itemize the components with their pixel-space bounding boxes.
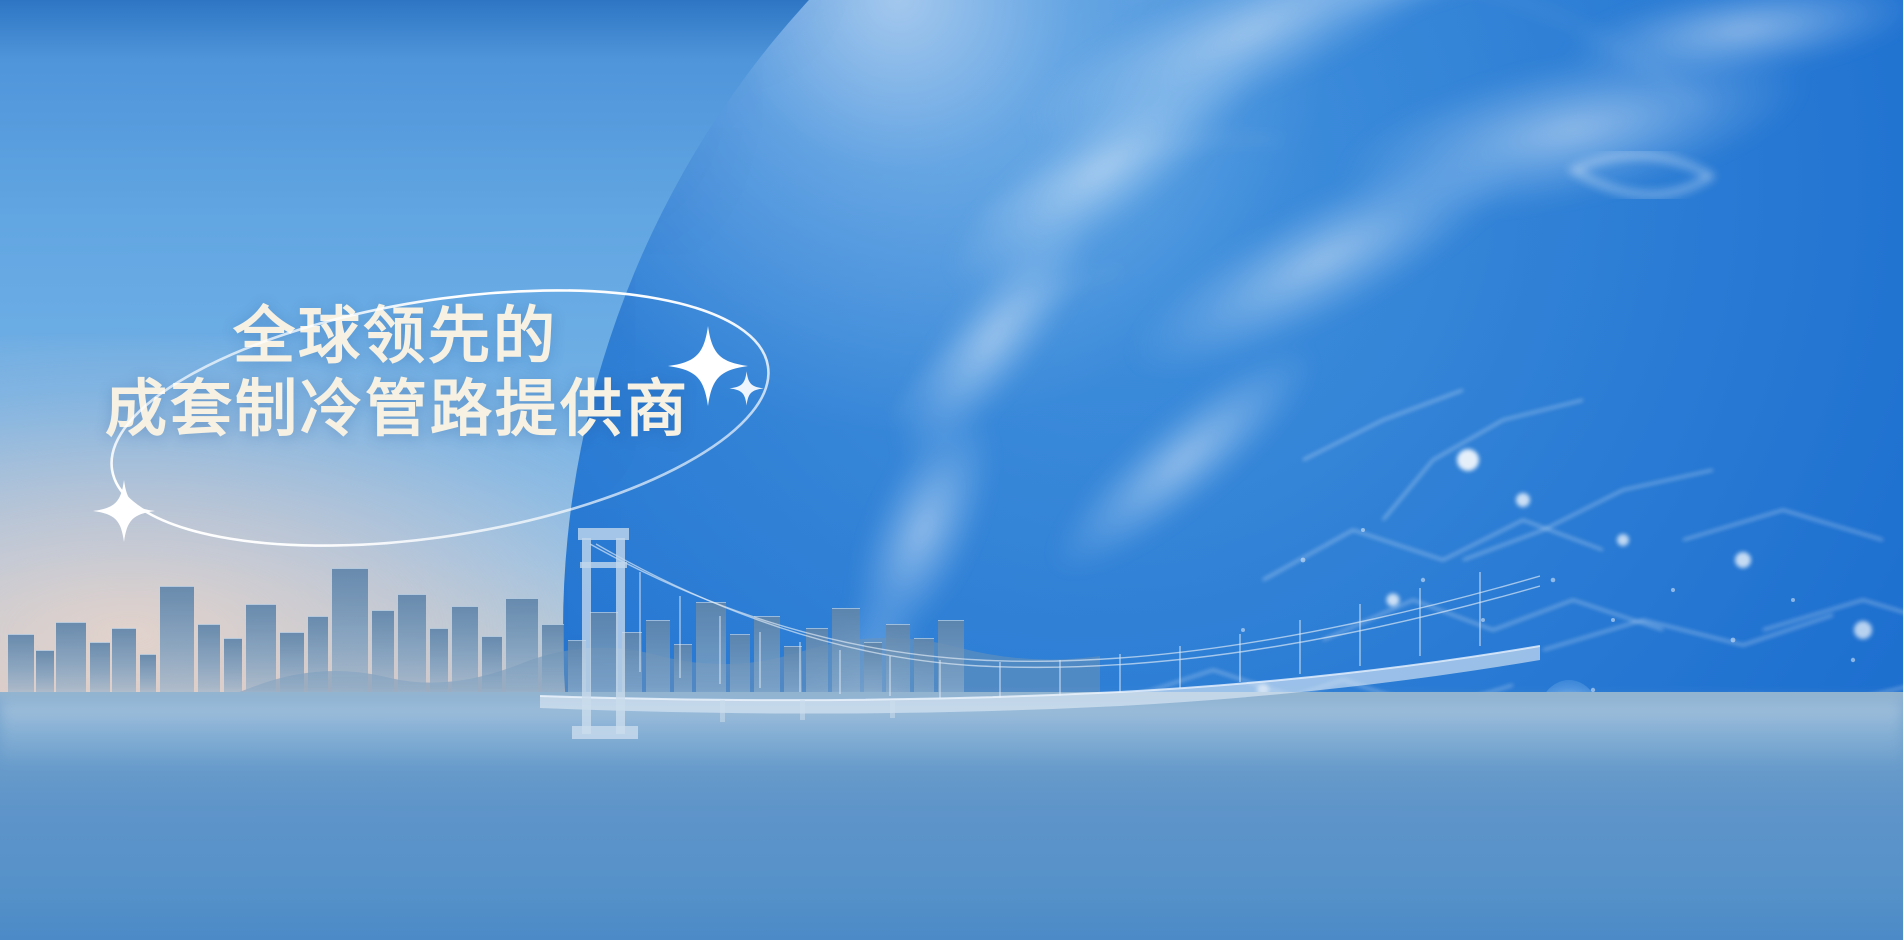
headline-line-1: 全球领先的 — [233, 300, 805, 373]
headline-line-2: 成套制冷管路提供商 — [105, 373, 805, 446]
suspension-bridge — [420, 500, 1540, 760]
hero-headline: 全球领先的 成套制冷管路提供商 — [105, 300, 805, 446]
hero-banner: 全球领先的 成套制冷管路提供商 — [0, 0, 1903, 940]
